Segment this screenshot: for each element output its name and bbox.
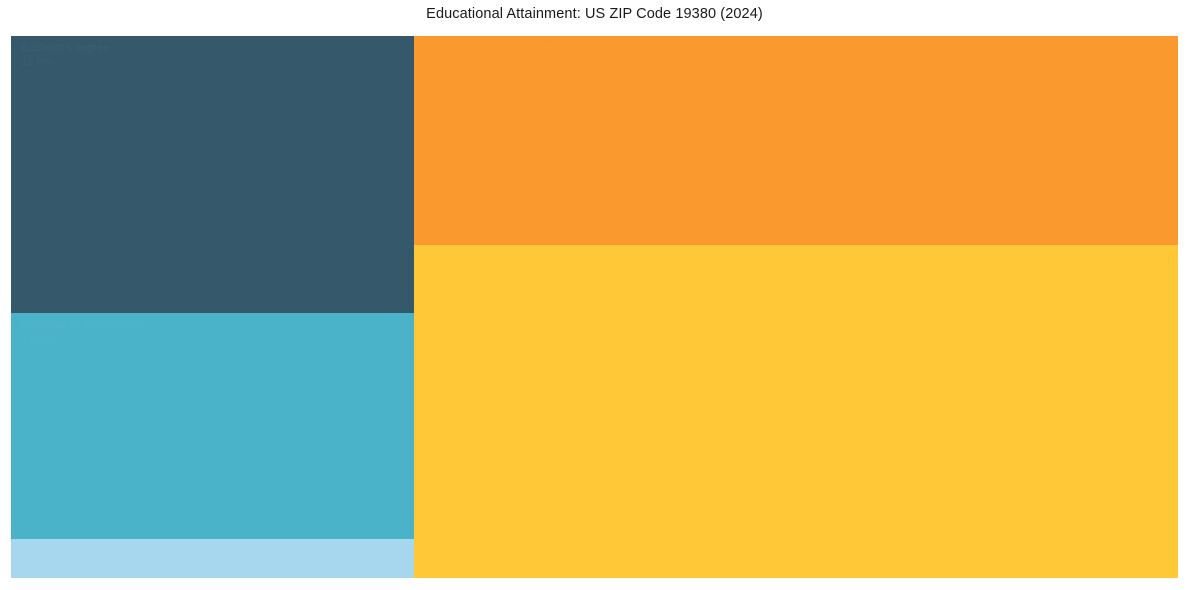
treemap-tile-high-school-graduate[interactable]: High school graduate 40.2% bbox=[414, 245, 1178, 578]
treemap-tile-value: 25.2% bbox=[424, 56, 561, 70]
treemap-plot-area: Bachelor's degree 17.6% Graduate or prof… bbox=[11, 36, 1178, 578]
treemap-tile-value: 2.5% bbox=[21, 559, 127, 573]
treemap-tile-bachelors-degree[interactable]: Bachelor's degree 17.6% bbox=[11, 36, 414, 313]
treemap-tile-label: Bachelor's degree 17.6% bbox=[21, 42, 109, 70]
treemap-tile-label: Less than high school 2.5% bbox=[21, 545, 127, 573]
treemap-column-right: Some college or associate's 25.2% High s… bbox=[414, 36, 1178, 578]
treemap-column-left: Bachelor's degree 17.6% Graduate or prof… bbox=[11, 36, 414, 578]
treemap-tile-value: 40.2% bbox=[424, 265, 528, 279]
treemap-figure: Educational Attainment: US ZIP Code 1938… bbox=[0, 0, 1189, 590]
treemap-tile-graduate-or-professional[interactable]: Graduate or professional 14.4% bbox=[11, 313, 414, 539]
treemap-tile-label: High school graduate 40.2% bbox=[424, 251, 528, 279]
chart-title: Educational Attainment: US ZIP Code 1938… bbox=[0, 6, 1189, 22]
treemap-tile-name: High school graduate bbox=[424, 251, 528, 265]
treemap-tile-label: Graduate or professional 14.4% bbox=[21, 319, 142, 347]
treemap-tile-value: 14.4% bbox=[21, 333, 142, 347]
treemap-tile-name: Less than high school bbox=[21, 545, 127, 559]
treemap-tile-less-than-high-school[interactable]: Less than high school 2.5% bbox=[11, 539, 414, 578]
treemap-tile-name: Graduate or professional bbox=[21, 319, 142, 333]
treemap-tile-label: Some college or associate's 25.2% bbox=[424, 42, 561, 70]
treemap-tile-name: Some college or associate's bbox=[424, 42, 561, 56]
treemap-tile-name: Bachelor's degree bbox=[21, 42, 109, 56]
treemap-tile-value: 17.6% bbox=[21, 56, 109, 70]
treemap-tile-some-college-or-associates[interactable]: Some college or associate's 25.2% bbox=[414, 36, 1178, 245]
